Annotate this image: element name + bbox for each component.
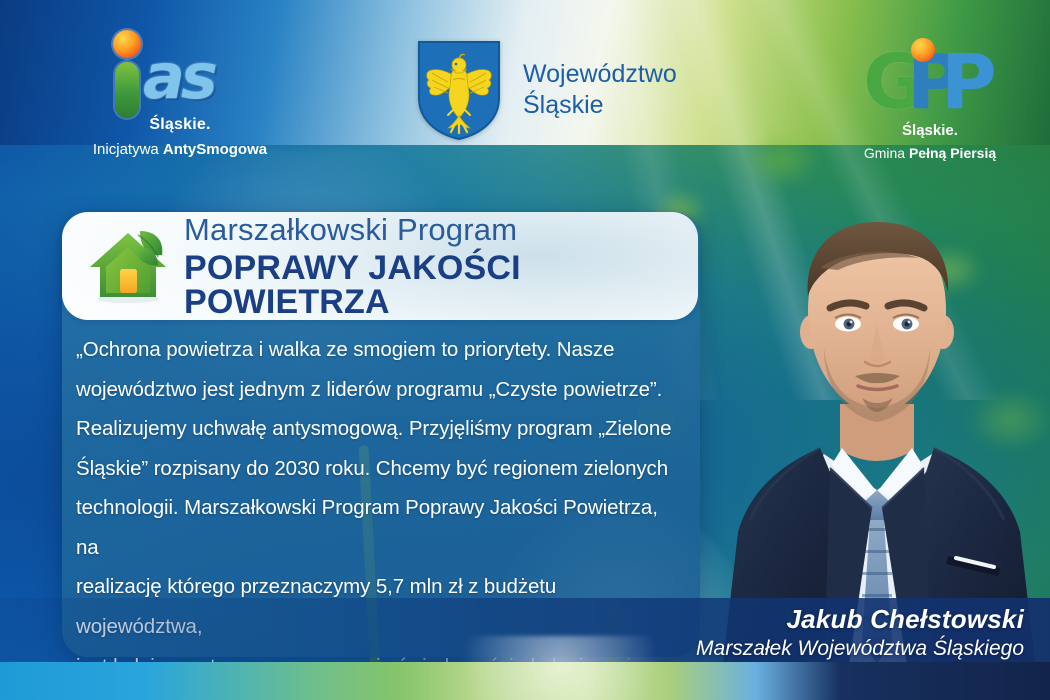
ias-tagline-bold: AntySmogowa — [163, 141, 267, 158]
bottom-photo-strip — [0, 662, 1050, 700]
person-name: Jakub Chełstowski — [0, 604, 1024, 635]
gpp-gradient-dot-icon — [911, 38, 935, 62]
gpp-tagline-prefix: Gmina — [864, 145, 909, 161]
card-title-line2: POPRAWY JAKOŚCI POWIETRZA — [184, 251, 698, 319]
dandelion-seed-glow — [430, 636, 690, 700]
ias-tagline: Inicjatywa AntySmogowa — [60, 141, 300, 158]
ias-tagline-prefix: Inicjatywa — [93, 141, 163, 158]
card-title: Marszałkowski Program POPRAWY JAKOŚCI PO… — [184, 214, 698, 319]
gpp-letter-p2-icon: P — [941, 44, 997, 120]
gpp-logo-icon: G P P — [855, 36, 1005, 124]
ias-letter-i-icon — [115, 62, 139, 118]
silesian-coat-of-arms-icon — [415, 38, 503, 142]
voivodeship-label: Województwo Śląskie — [523, 59, 677, 122]
voivodeship-line1: Województwo — [523, 59, 677, 90]
green-house-leaf-icon — [88, 227, 172, 305]
quote-line: województwo jest jednym z liderów progra… — [76, 370, 676, 410]
quote-line: technologii. Marszałkowski Program Popra… — [76, 488, 676, 567]
gpp-tagline-bold: Pełną Piersią — [909, 145, 996, 161]
ias-logo-icon: as — [105, 30, 255, 120]
portrait-illustration — [712, 172, 1042, 672]
quote-line: Śląskie” rozpisany do 2030 roku. Chcemy … — [76, 449, 676, 489]
poster-canvas: as Śląskie. Inicjatywa AntySmogowa — [0, 0, 1050, 700]
logo-gpp[interactable]: G P P Śląskie. Gmina Pełną Piersią — [830, 36, 1030, 161]
ias-letters-as: as — [143, 46, 214, 108]
quote-line: „Ochrona powietrza i walka ze smogiem to… — [76, 330, 676, 370]
logo-strip: as Śląskie. Inicjatywa AntySmogowa — [0, 0, 1050, 180]
ias-gradient-dot-icon — [113, 30, 141, 58]
portrait-photo — [712, 172, 1042, 672]
logo-ias[interactable]: as Śląskie. Inicjatywa AntySmogowa — [60, 30, 300, 158]
logo-voivodeship[interactable]: Województwo Śląskie — [415, 38, 705, 142]
quote-line: Realizujemy uchwałę antysmogową. Przyjęl… — [76, 409, 676, 449]
quote-card: Marszałkowski Program POPRAWY JAKOŚCI PO… — [62, 212, 700, 657]
card-title-line1: Marszałkowski Program — [184, 214, 698, 245]
gpp-tagline: Gmina Pełną Piersią — [830, 145, 1030, 161]
voivodeship-line2: Śląskie — [523, 90, 677, 121]
card-header: Marszałkowski Program POPRAWY JAKOŚCI PO… — [62, 212, 698, 320]
